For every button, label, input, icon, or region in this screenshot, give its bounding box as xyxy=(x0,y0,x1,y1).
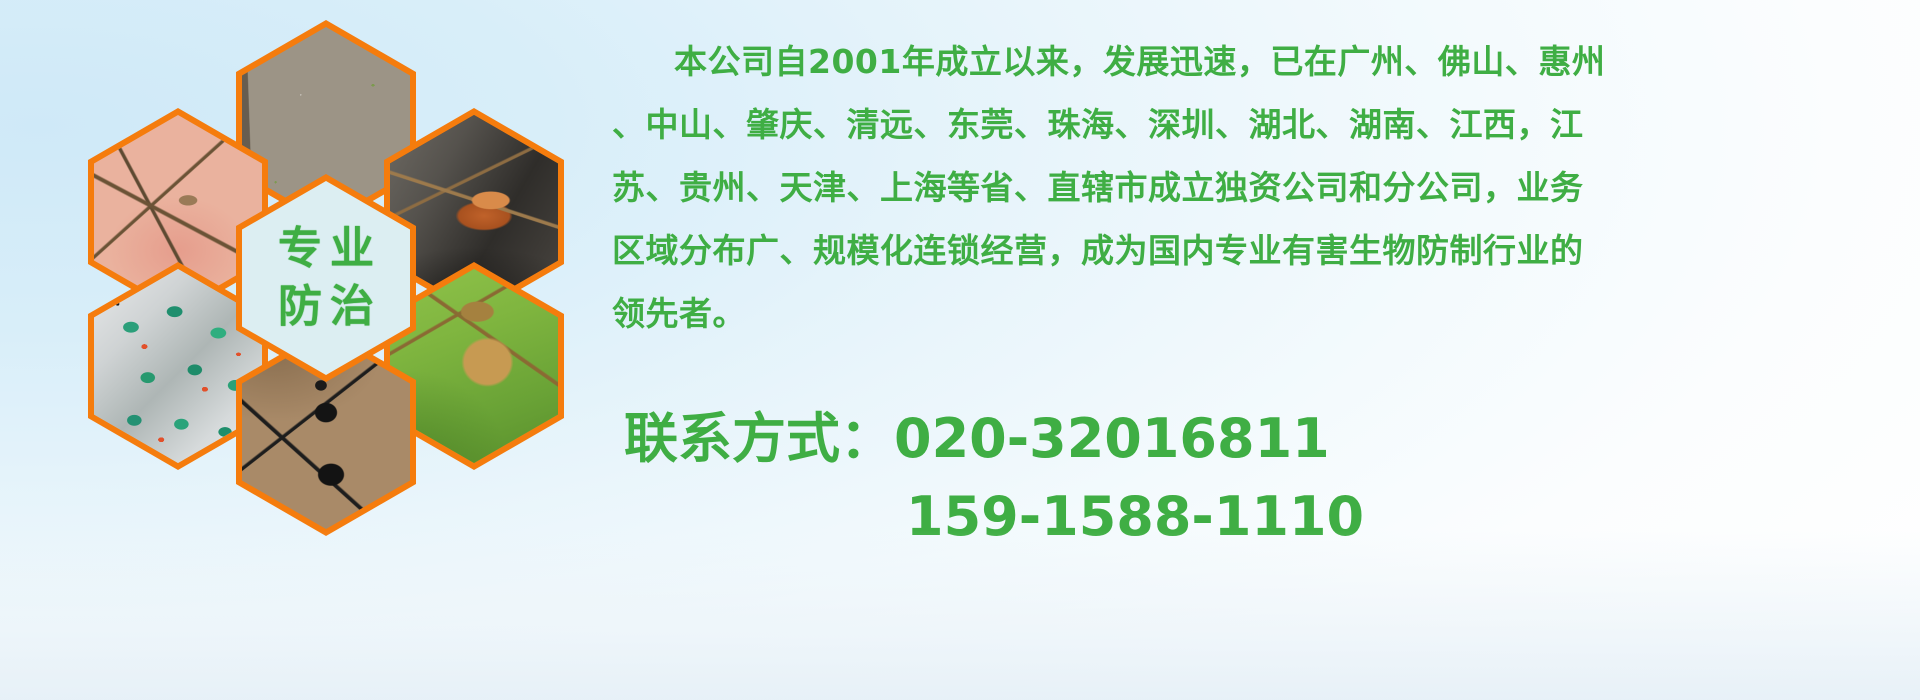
promo-banner: 专业 防治 本公司自2001年成立以来，发展迅速，已在广州、佛山、惠州 、中山、… xyxy=(0,0,1920,700)
contact-phone-landline[interactable]: 联系方式：020-32016811 xyxy=(624,400,1904,478)
contact-phone-mobile[interactable]: 159-1588-1110 xyxy=(624,478,1904,556)
description-line-3: 苏、贵州、天津、上海等省、直辖市成立独资公司和分公司，业务 xyxy=(612,160,1912,216)
description-line-5: 领先者。 xyxy=(612,286,1912,342)
description-line-4: 区域分布广、规模化连锁经营，成为国内专业有害生物防制行业的 xyxy=(612,223,1912,279)
description-line-2: 、中山、肇庆、清远、东莞、珠海、深圳、湖北、湖南、江西，江 xyxy=(612,97,1912,153)
slogan-line-2: 防治 xyxy=(270,285,382,329)
slogan-line-1: 专业 xyxy=(270,227,382,271)
description-line-1: 本公司自2001年成立以来，发展迅速，已在广州、佛山、惠州 xyxy=(612,34,1912,90)
hex-cluster: 专业 防治 xyxy=(88,8,588,548)
contact-block: 联系方式：020-32016811 159-1588-1110 xyxy=(624,400,1904,556)
company-description: 本公司自2001年成立以来，发展迅速，已在广州、佛山、惠州 、中山、肇庆、清远、… xyxy=(612,34,1912,349)
